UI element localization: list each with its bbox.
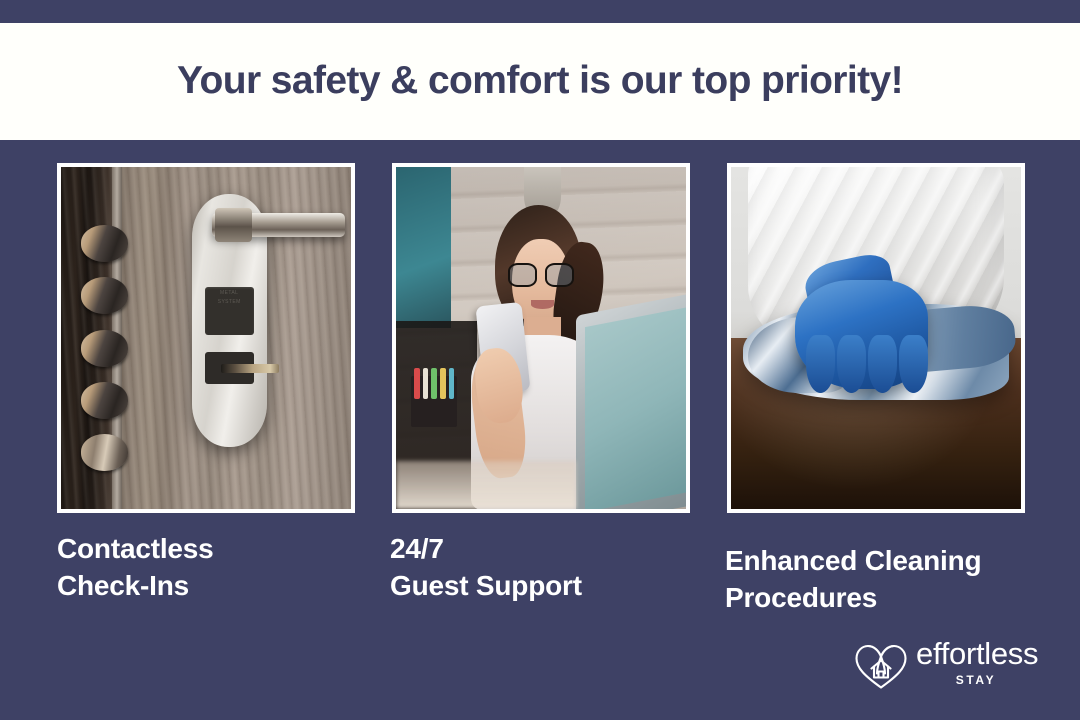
pen <box>423 368 429 399</box>
background-teal-panel <box>396 167 451 328</box>
glove-fingers <box>806 335 928 393</box>
feature-card-enhanced-cleaning <box>727 163 1025 513</box>
poster-canvas: Your safety & comfort is our top priorit… <box>0 0 1080 720</box>
caption-enhanced-cleaning: Enhanced Cleaning Procedures <box>725 542 1055 616</box>
pen <box>440 368 446 399</box>
glove-finger <box>806 335 835 393</box>
pen <box>431 368 437 399</box>
feature-captions: Contactless Check-Ins 24/7 Guest Support… <box>57 530 1035 620</box>
glove-finger <box>899 335 928 393</box>
laptop-screen <box>585 307 687 509</box>
lock-rivets-group <box>81 225 127 471</box>
lock-brand-badge: METAL SYSTEM <box>205 287 254 335</box>
pen-holder <box>411 376 457 427</box>
foreground-blur <box>396 461 576 509</box>
heart-house-icon <box>852 640 910 692</box>
logo-wordmark-group: effortless STAY <box>916 638 1040 694</box>
lock-rivet <box>81 225 127 262</box>
header-band: Your safety & comfort is our top priorit… <box>0 23 1080 140</box>
lock-badge-line-2: SYSTEM <box>205 296 254 306</box>
feature-card-guest-support <box>392 163 690 513</box>
feature-cards-row: METAL SYSTEM <box>57 163 1025 513</box>
page-title: Your safety & comfort is our top priorit… <box>177 59 903 105</box>
door-key <box>221 364 279 373</box>
gloved-hand-cleaning-photo <box>731 167 1021 509</box>
glove-finger <box>868 335 897 393</box>
logo-wordmark: effortless <box>916 638 1040 671</box>
lock-badge-line-1: METAL <box>205 287 254 297</box>
guest-using-phone-photo <box>396 167 686 509</box>
glove-finger <box>837 335 866 393</box>
eyeglasses-icon <box>508 263 575 287</box>
caption-contactless-check-ins: Contactless Check-Ins <box>57 530 377 604</box>
lock-rivet <box>81 382 127 419</box>
logo-subtext: STAY <box>916 673 1040 687</box>
brand-logo: effortless STAY <box>852 638 1042 700</box>
lock-rivet <box>81 434 127 471</box>
door-handle-knob <box>215 208 253 242</box>
pen <box>449 368 455 399</box>
lock-rivet <box>81 330 127 367</box>
contactless-door-lock-photo: METAL SYSTEM <box>61 167 351 509</box>
pen <box>414 368 420 399</box>
lock-rivet <box>81 277 127 314</box>
caption-guest-support: 24/7 Guest Support <box>390 530 720 604</box>
feature-card-contactless-check-ins: METAL SYSTEM <box>57 163 355 513</box>
